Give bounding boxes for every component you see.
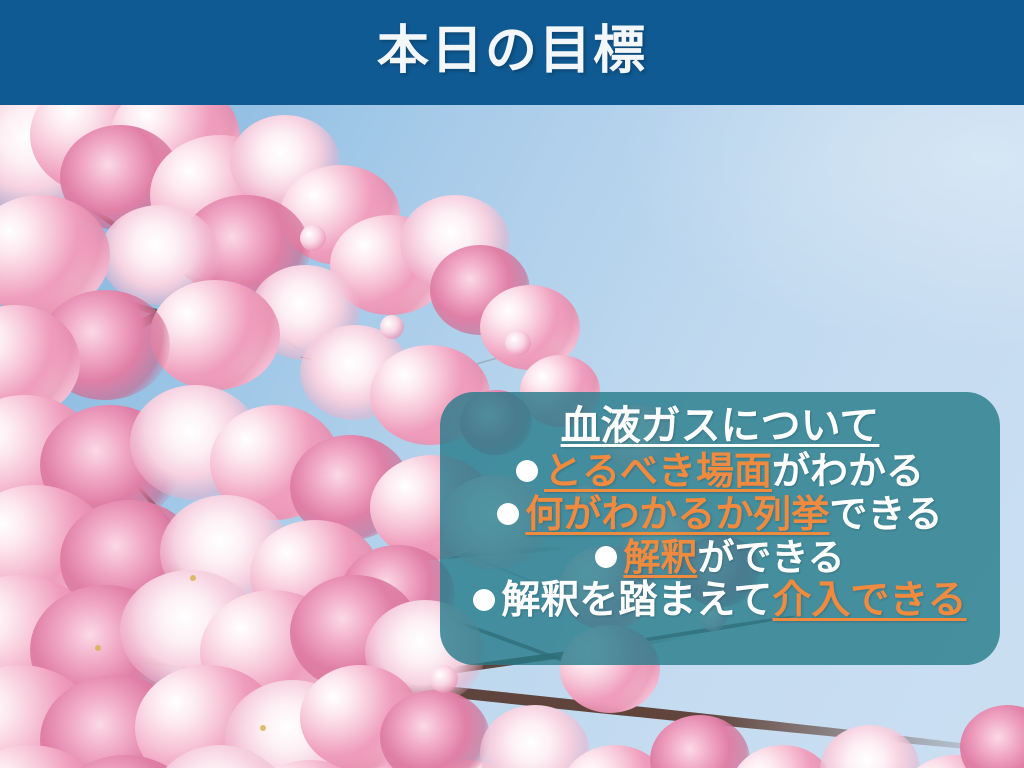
bullet-icon (516, 460, 538, 482)
blossom-petal (505, 330, 531, 356)
slide-canvas: 本日の目標 血液ガスについて とるべき場面がわかる 何がわかるか列挙できる 解釈… (0, 0, 1024, 768)
header-bar: 本日の目標 (0, 0, 1024, 105)
blossom-petal (430, 665, 458, 693)
objective-item-4-highlight: 介入できる (772, 579, 966, 622)
objective-item-2-plain: できる (829, 494, 942, 536)
objectives-callout-panel: 血液ガスについて とるべき場面がわかる 何がわかるか列挙できる 解釈ができる 解… (440, 392, 1000, 665)
blossom-stamen (260, 725, 266, 731)
blossom-petal (300, 225, 326, 251)
blossom-cluster (150, 280, 280, 390)
blossom-petal (380, 315, 404, 339)
objective-item-3-highlight: 解釈 (623, 537, 697, 578)
bullet-icon (595, 546, 617, 568)
callout-heading: 血液ガスについて (458, 406, 982, 446)
objective-item-4-plain: 解釈を踏まえて (501, 579, 772, 622)
objective-item-3-plain: ができる (697, 537, 844, 578)
objective-item-2: 何がわかるか列挙できる (458, 496, 982, 534)
objective-item-1-plain: がわかる (772, 451, 924, 493)
bullet-icon (473, 589, 495, 611)
objective-item-1-highlight: とるべき場面 (544, 451, 772, 493)
objective-item-4: 解釈を踏まえて介入できる (458, 581, 982, 620)
objective-item-3: 解釈ができる (458, 539, 982, 576)
objective-item-1: とるべき場面がわかる (458, 453, 982, 491)
callout-heading-text: 血液ガスについて (561, 404, 880, 448)
bullet-icon (497, 503, 519, 525)
objective-item-2-highlight: 何がわかるか列挙 (525, 494, 829, 536)
page-title: 本日の目標 (0, 12, 1024, 90)
blossom-stamen (190, 575, 196, 581)
blossom-stamen (95, 645, 101, 651)
